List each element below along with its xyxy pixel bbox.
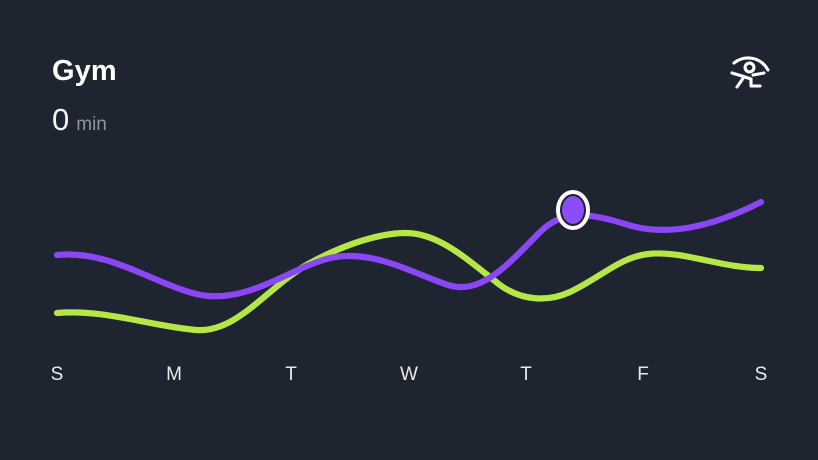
series-line-purple bbox=[57, 202, 761, 296]
card-header: Gym 0min bbox=[0, 0, 818, 150]
axis-label-tuesday: T bbox=[271, 362, 311, 388]
running-person-icon[interactable] bbox=[726, 46, 774, 94]
chart-svg bbox=[0, 150, 818, 380]
metric-readout: 0min bbox=[52, 103, 107, 143]
metric-value: 0 bbox=[52, 102, 69, 137]
axis-label-sunday: S bbox=[37, 362, 77, 388]
axis-label-friday: F bbox=[623, 362, 663, 388]
marker-fill bbox=[562, 196, 584, 224]
axis-label-saturday: S bbox=[741, 362, 781, 388]
weekly-activity-chart[interactable] bbox=[0, 150, 818, 380]
axis-label-wednesday: W bbox=[389, 362, 429, 388]
selected-point-marker[interactable] bbox=[558, 192, 588, 228]
metric-unit: min bbox=[76, 114, 107, 135]
axis-label-monday: M bbox=[154, 362, 194, 388]
activity-card: Gym 0min bbox=[0, 0, 818, 460]
x-axis-labels: S M T W T F S bbox=[0, 362, 818, 396]
axis-label-thursday: T bbox=[506, 362, 546, 388]
running-person-icon-svg bbox=[726, 46, 774, 94]
page-title: Gym bbox=[52, 54, 117, 88]
